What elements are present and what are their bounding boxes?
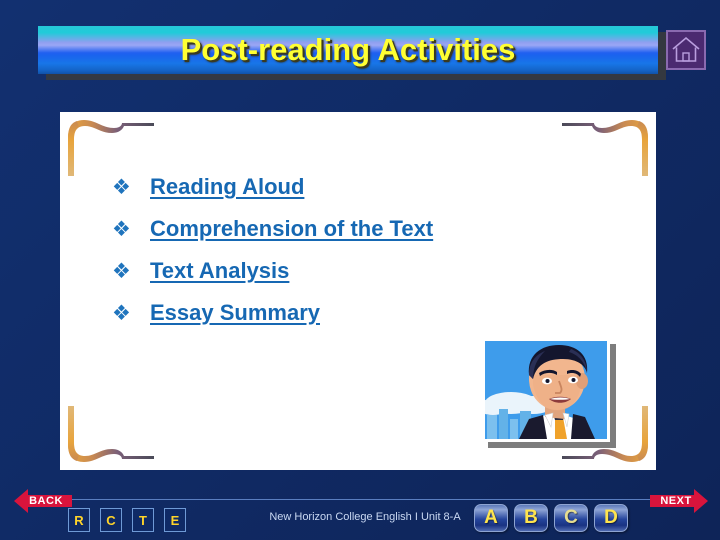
section-button-e[interactable]: E (164, 508, 186, 532)
list-item[interactable]: ❖ Comprehension of the Text (112, 216, 582, 258)
choice-button-c[interactable]: C (554, 504, 588, 532)
choice-button-a[interactable]: A (474, 504, 508, 532)
home-button[interactable] (666, 30, 706, 70)
choice-button-b[interactable]: B (514, 504, 548, 532)
diamond-bullet-icon: ❖ (112, 261, 150, 282)
content-panel: ❖ Reading Aloud ❖ Comprehension of the T… (60, 112, 656, 470)
section-nav-buttons: R C T E (68, 508, 186, 532)
corner-ornament-top-right (562, 114, 654, 178)
home-icon (668, 32, 704, 68)
list-item[interactable]: ❖ Essay Summary (112, 300, 582, 342)
activity-link-text-analysis[interactable]: Text Analysis (150, 258, 289, 284)
choice-nav-buttons: A B C D (474, 504, 628, 532)
diamond-bullet-icon: ❖ (112, 219, 150, 240)
diamond-bullet-icon: ❖ (112, 177, 150, 198)
section-button-r[interactable]: R (68, 508, 90, 532)
back-button[interactable]: BACK (14, 487, 72, 515)
choice-button-d[interactable]: D (594, 504, 628, 532)
list-item[interactable]: ❖ Reading Aloud (112, 174, 582, 216)
diamond-bullet-icon: ❖ (112, 303, 150, 324)
footer-divider (56, 499, 664, 500)
next-button-label: NEXT (650, 487, 708, 515)
next-button[interactable]: NEXT (650, 487, 708, 515)
businessman-illustration (482, 338, 610, 442)
corner-ornament-bottom-left (62, 404, 154, 468)
footer-caption: New Horizon College English I Unit 8-A (255, 511, 475, 523)
title-banner: Post-reading Activities (38, 26, 658, 74)
section-button-t[interactable]: T (132, 508, 154, 532)
list-item[interactable]: ❖ Text Analysis (112, 258, 582, 300)
activity-link-comprehension[interactable]: Comprehension of the Text (150, 216, 433, 242)
activity-link-essay-summary[interactable]: Essay Summary (150, 300, 320, 326)
businessman-cartoon-icon (485, 341, 607, 439)
section-button-c[interactable]: C (100, 508, 122, 532)
slide-canvas: Post-reading Activities (0, 0, 720, 540)
activity-link-reading-aloud[interactable]: Reading Aloud (150, 174, 304, 200)
page-title: Post-reading Activities (38, 26, 658, 74)
corner-ornament-top-left (62, 114, 154, 178)
back-button-label: BACK (14, 487, 72, 515)
activity-list: ❖ Reading Aloud ❖ Comprehension of the T… (112, 174, 582, 342)
